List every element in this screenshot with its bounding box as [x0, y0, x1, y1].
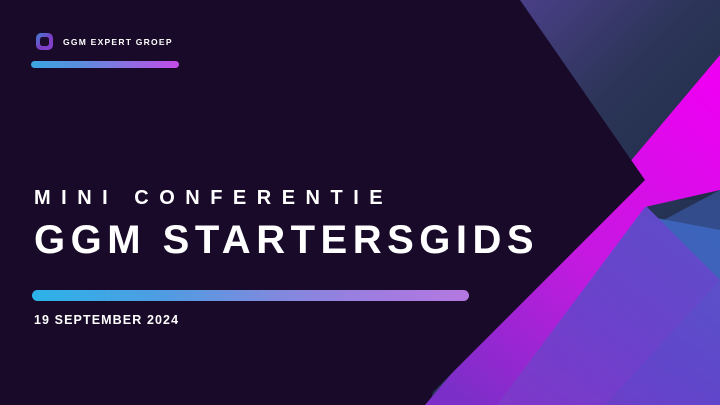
eyebrow-text: MINI CONFERENTIE — [34, 188, 539, 208]
divider-accent-bar — [32, 290, 469, 301]
logo-inner-shape — [40, 37, 49, 46]
title-slide: GGM EXPERT GROEP MINI CONFERENTIE GGM ST… — [0, 0, 720, 405]
brand-name: GGM EXPERT GROEP — [63, 37, 173, 47]
top-accent-bar — [31, 61, 179, 68]
rounded-square-logo-icon — [36, 33, 53, 50]
brand-lockup: GGM EXPERT GROEP — [36, 33, 173, 50]
event-date: 19 SEPTEMBER 2024 — [34, 313, 179, 327]
headline-block: MINI CONFERENTIE GGM STARTERSGIDS — [34, 188, 539, 260]
page-title: GGM STARTERSGIDS — [34, 220, 539, 260]
